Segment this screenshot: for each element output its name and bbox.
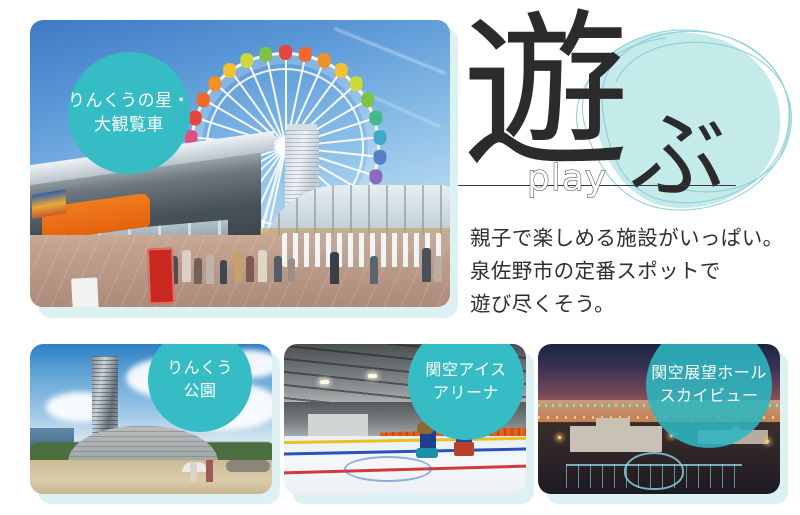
wheel-gondola (361, 93, 374, 108)
pedestrian-figure (258, 250, 267, 282)
visitor-figure (206, 460, 213, 482)
ice-rink-surface (284, 436, 526, 494)
rock-cluster (226, 460, 270, 472)
street-lamp (766, 440, 769, 443)
wheel-gondola (299, 47, 312, 62)
pedestrian-figure (194, 258, 202, 284)
wheel-gondola (189, 111, 202, 126)
rink-faceoff-circle (344, 456, 432, 482)
ceiling-light (368, 374, 377, 378)
pedestrian-figure (274, 256, 282, 282)
wheel-gondola (208, 76, 221, 91)
terminal-roof-unit (596, 418, 630, 428)
pedestrian-figure (422, 248, 431, 282)
thumbnail-1-photo[interactable]: りんくう 公園 (30, 344, 272, 494)
wheel-gondola (335, 63, 348, 78)
wheel-gondola (369, 111, 382, 126)
terminal-building (570, 426, 662, 452)
rink-line-yellow (284, 437, 526, 444)
wheel-gondola (369, 169, 382, 184)
deck-sculpture (624, 452, 684, 490)
description-text: 親子で楽しめる施設がいっぱい。 泉佐野市の定番スポットで 遊び尽くそう。 (470, 222, 790, 322)
outdoor-chairs (282, 233, 442, 267)
pedestrian-figure (182, 250, 191, 282)
red-a-board-sign (147, 248, 175, 305)
wheel-gondola (373, 150, 386, 165)
mascot-skirt (416, 448, 438, 458)
pedestrian-figure (206, 254, 214, 284)
wheel-gondola (197, 93, 210, 108)
thumbnail-1-badge-line-1: りんくう (167, 357, 233, 380)
rink-line-blue (284, 447, 526, 455)
visitor-figure (190, 462, 197, 482)
thumbnail-3-badge-line-2: スカイビュー (659, 385, 758, 408)
thumbnail-1-badge-line-2: 公園 (183, 380, 216, 403)
description-line-1: 親子で楽しめる施設がいっぱい。 (470, 222, 790, 255)
pedestrian-figure (288, 258, 295, 282)
hero-badge-line-1: りんくうの星・ (68, 89, 190, 113)
wheel-gondola (223, 63, 236, 78)
page-title-kanji: 遊 (462, 8, 624, 176)
description-line-2: 泉佐野市の定番スポットで (470, 255, 790, 288)
pedestrian-figure (220, 260, 227, 284)
white-notice-sign (71, 277, 99, 307)
wheel-gondola (373, 130, 386, 145)
street-lamp (558, 436, 561, 439)
thumbnail-2-badge-line-1: 関空アイス (425, 359, 506, 382)
wheel-gondola (279, 45, 292, 60)
wheel-gondola (318, 53, 331, 68)
ceiling-light (320, 380, 329, 384)
pedestrian-figure (330, 252, 339, 284)
thumbnail-2-badge-line-2: アリーナ (433, 382, 499, 405)
wheel-gondola (259, 47, 272, 62)
hero-photo[interactable]: りんくうの星・ 大観覧車 (30, 20, 450, 307)
hero-badge-line-2: 大観覧車 (94, 113, 164, 137)
pedestrian-figure (246, 256, 254, 282)
thumbnail-2-photo[interactable]: 関空アイス アリーナ (284, 344, 526, 494)
page-title-kana: ぶ (630, 108, 726, 204)
description-line-3: 遊び尽くそう。 (470, 288, 790, 321)
pedestrian-figure (370, 256, 378, 284)
pedestrian-figure (234, 252, 242, 282)
page-title-romaji: play (527, 161, 607, 197)
pedestrian-figure (434, 256, 442, 282)
wheel-gondola (240, 53, 253, 68)
thumbnail-3-photo[interactable]: 関空展望ホール スカイビュー (538, 344, 780, 494)
hero-badge[interactable]: りんくうの星・ 大観覧車 (68, 52, 190, 174)
thumbnail-3-badge-line-1: 関空展望ホール (651, 362, 767, 385)
wheel-gondola (350, 76, 363, 91)
mascot-cape (454, 442, 474, 456)
